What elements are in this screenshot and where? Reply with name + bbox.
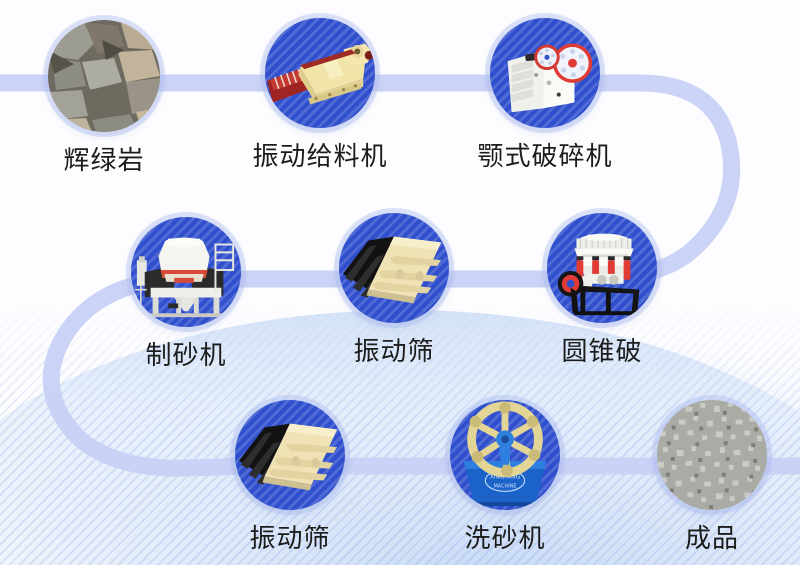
vibrating-screen-machine-icon <box>339 213 449 323</box>
finished-gravel-photo-icon <box>657 400 767 510</box>
sand-washing-machine-icon: XINGYANG MACHINE <box>450 400 560 510</box>
node-sand-maker-label: 制砂机 <box>76 335 296 372</box>
node-sand-washer-label: 洗砂机 <box>395 518 615 555</box>
node-diabase-label: 辉绿岩 <box>0 140 214 177</box>
vibrating-feeder-machine-icon <box>265 18 375 128</box>
node-diabase-disc[interactable] <box>48 20 160 132</box>
svg-text:MACHINE: MACHINE <box>494 483 517 489</box>
sand-making-machine-icon <box>131 217 241 327</box>
node-cone-crusher-disc[interactable] <box>547 213 657 323</box>
node-vib-screen-bot-label: 振动筛 <box>180 518 400 555</box>
cone-crusher-machine-icon <box>547 213 657 323</box>
node-cone-crusher-label: 圆锥破 <box>492 331 712 368</box>
node-final-product-label: 成品 <box>602 518 800 555</box>
node-vib-screen-bot-disc[interactable] <box>235 400 345 510</box>
jaw-crusher-machine-icon <box>490 18 600 128</box>
node-jaw-crusher-disc[interactable] <box>490 18 600 128</box>
node-sand-washer-disc[interactable]: XINGYANG MACHINE <box>450 400 560 510</box>
node-jaw-crusher-label: 颚式破碎机 <box>435 136 655 173</box>
node-vib-screen-mid-label: 振动筛 <box>284 331 504 368</box>
node-vib-screen-mid-disc[interactable] <box>339 213 449 323</box>
rock-pile-photo-icon <box>48 20 160 132</box>
vibrating-screen-machine-icon <box>235 400 345 510</box>
node-sand-maker-disc[interactable] <box>131 217 241 327</box>
node-vib-feeder-label: 振动给料机 <box>210 136 430 173</box>
node-vib-feeder-disc[interactable] <box>265 18 375 128</box>
node-final-product-disc[interactable] <box>657 400 767 510</box>
